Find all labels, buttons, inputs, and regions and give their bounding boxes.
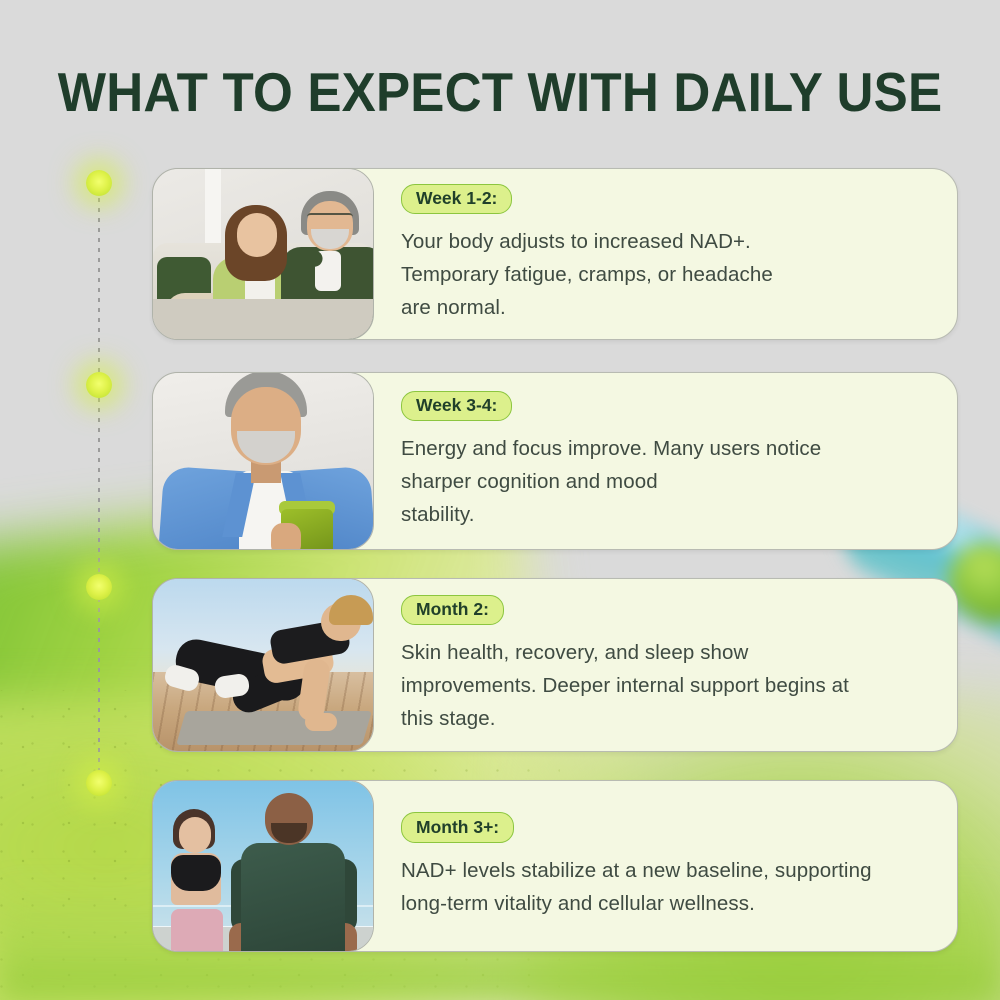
man-with-jar-illustration — [153, 373, 373, 549]
timeline-card-1[interactable]: Week 1-2: Your body adjusts to increased… — [152, 168, 958, 340]
desc-line: Temporary fatigue, cramps, or headache — [401, 258, 931, 291]
timeline-card-4-image — [152, 780, 374, 952]
timeline-card-1-image — [152, 168, 374, 340]
timeline-card-3-badge: Month 2: — [401, 595, 504, 625]
timeline-card-1-body: Week 1-2: Your body adjusts to increased… — [401, 169, 931, 339]
timeline-card-4[interactable]: Month 3+: NAD+ levels stabilize at a new… — [152, 780, 958, 952]
desc-line: improvements. Deeper internal support be… — [401, 669, 931, 702]
desc-line: Energy and focus improve. Many users not… — [401, 432, 931, 465]
timeline-card-2-body: Week 3-4: Energy and focus improve. Many… — [401, 373, 931, 549]
timeline-card-2-description: Energy and focus improve. Many users not… — [401, 432, 931, 531]
timeline-card-3[interactable]: Month 2: Skin health, recovery, and slee… — [152, 578, 958, 752]
timeline-card-1-description: Your body adjusts to increased NAD+. Tem… — [401, 225, 931, 324]
woman-exercising-illustration — [153, 579, 373, 751]
couple-on-sofa-illustration — [153, 169, 373, 339]
infographic-page: WHAT TO EXPECT WITH DAILY USE Wee — [0, 0, 1000, 1000]
desc-line: are normal. — [401, 291, 931, 324]
timeline-dot-2 — [86, 372, 112, 398]
timeline-card-4-badge: Month 3+: — [401, 812, 514, 842]
timeline-card-2[interactable]: Week 3-4: Energy and focus improve. Many… — [152, 372, 958, 550]
desc-line: long-term vitality and cellular wellness… — [401, 887, 931, 920]
desc-line: NAD+ levels stabilize at a new baseline,… — [401, 854, 931, 887]
timeline-dotted-line — [98, 178, 100, 783]
timeline-card-3-description: Skin health, recovery, and sleep show im… — [401, 636, 931, 735]
timeline-card-1-badge: Week 1-2: — [401, 184, 512, 214]
page-title: WHAT TO EXPECT WITH DAILY USE — [35, 60, 965, 124]
timeline-card-3-image — [152, 578, 374, 752]
timeline-card-2-badge: Week 3-4: — [401, 391, 512, 421]
timeline-card-4-description: NAD+ levels stabilize at a new baseline,… — [401, 854, 931, 920]
timeline-card-3-body: Month 2: Skin health, recovery, and slee… — [401, 579, 931, 751]
desc-line: this stage. — [401, 702, 931, 735]
desc-line: Your body adjusts to increased NAD+. — [401, 225, 931, 258]
couple-walking-illustration — [153, 781, 373, 951]
timeline-card-2-image — [152, 372, 374, 550]
desc-line: stability. — [401, 498, 931, 531]
desc-line: Skin health, recovery, and sleep show — [401, 636, 931, 669]
timeline-dot-3 — [86, 574, 112, 600]
timeline-dot-4 — [86, 770, 112, 796]
desc-line: sharper cognition and mood — [401, 465, 931, 498]
timeline-rail — [86, 150, 112, 830]
timeline-dot-1 — [86, 170, 112, 196]
timeline-card-4-body: Month 3+: NAD+ levels stabilize at a new… — [401, 781, 931, 951]
